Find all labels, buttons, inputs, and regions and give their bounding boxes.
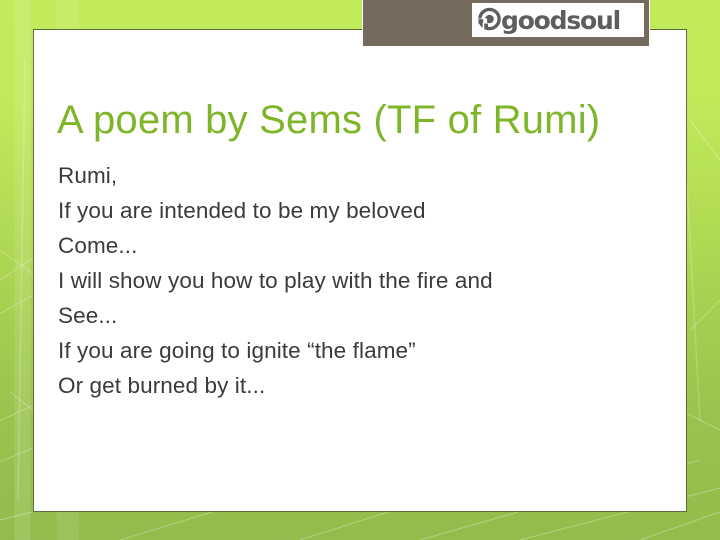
slide-title: A poem by Sems (TF of Rumi) [57,98,600,142]
circular-target-icon [476,7,502,33]
poem-line: See... [58,298,628,333]
poem-line: Rumi, [58,158,628,193]
poem-body: Rumi, If you are intended to be my belov… [58,158,628,403]
poem-line: If you are intended to be my beloved [58,193,628,228]
poem-line: I will show you how to play with the fir… [58,263,628,298]
slide: goodsoul A poem by Sems (TF of Rumi) Rum… [0,0,720,540]
poem-line: Or get burned by it... [58,368,628,403]
logo-wordmark: goodsoul [501,8,620,33]
poem-line: Come... [58,228,628,263]
poem-line: If you are going to ignite “the flame” [58,333,628,368]
logo-lockup: goodsoul [472,3,644,37]
logo-plate: goodsoul [362,0,650,47]
